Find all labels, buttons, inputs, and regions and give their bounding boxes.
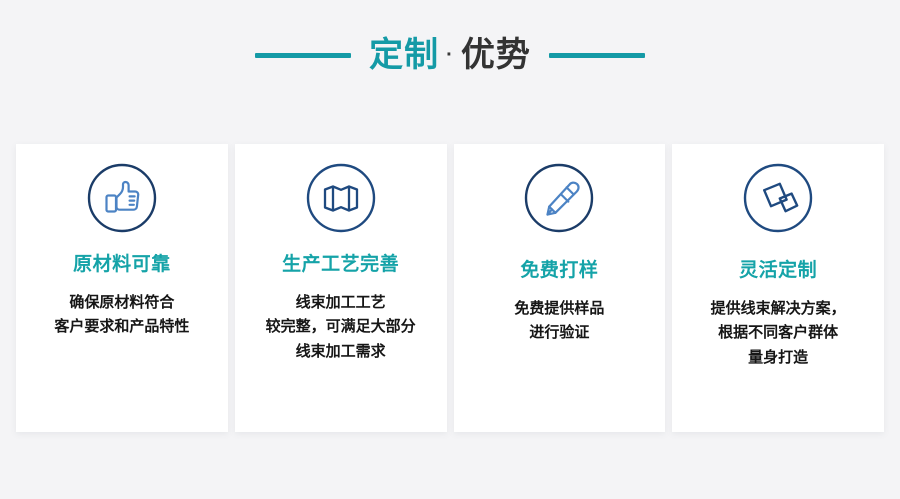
feature-card-description: 免费提供样品 进行验证 xyxy=(506,297,612,346)
feature-card-description: 线束加工工艺 较完整，可满足大部分 线束加工需求 xyxy=(258,291,424,364)
feature-card-title: 原材料可靠 xyxy=(73,255,171,274)
stacked-cards-icon xyxy=(741,161,815,235)
page-title-secondary: 优势 xyxy=(461,38,531,72)
pencil-icon xyxy=(522,161,596,235)
feature-card-description: 确保原材料符合 客户要求和产品特性 xyxy=(46,291,197,340)
feature-card-description-line: 线束加工工艺 xyxy=(266,291,416,315)
feature-card[interactable]: 免费打样 免费提供样品 进行验证 xyxy=(454,144,666,432)
section-heading: 定制 · 优势 xyxy=(0,0,900,110)
folded-map-icon xyxy=(304,161,378,235)
feature-card-title: 免费打样 xyxy=(520,261,598,280)
feature-card-description-line: 较完整，可满足大部分 xyxy=(266,315,416,339)
feature-card-title: 灵活定制 xyxy=(739,261,817,280)
feature-card-description-line: 免费提供样品 xyxy=(514,297,604,321)
feature-card-description-line: 进行验证 xyxy=(514,321,604,345)
heading-rule-left xyxy=(255,53,351,58)
feature-card[interactable]: 灵活定制 提供线束解决方案， 根据不同客户群体 量身打造 xyxy=(672,144,884,432)
feature-card-description: 提供线束解决方案， 根据不同客户群体 量身打造 xyxy=(703,297,854,370)
feature-card[interactable]: 生产工艺完善 线束加工工艺 较完整，可满足大部分 线束加工需求 xyxy=(235,144,447,432)
feature-card-description-line: 量身打造 xyxy=(711,346,846,370)
feature-card-description-line: 客户要求和产品特性 xyxy=(54,315,189,339)
page-title-primary: 定制 xyxy=(369,38,439,72)
feature-card[interactable]: 原材料可靠 确保原材料符合 客户要求和产品特性 xyxy=(16,144,228,432)
feature-card-description-line: 线束加工需求 xyxy=(266,340,416,364)
feature-card-description-line: 确保原材料符合 xyxy=(54,291,189,315)
page-title: 定制 · 优势 xyxy=(369,38,531,72)
feature-card-title: 生产工艺完善 xyxy=(282,255,399,274)
heading-rule-right xyxy=(549,53,645,58)
page-title-separator: · xyxy=(439,45,461,65)
thumbs-up-icon xyxy=(85,161,159,235)
feature-card-description-line: 提供线束解决方案， xyxy=(711,297,846,321)
feature-card-list: 原材料可靠 确保原材料符合 客户要求和产品特性 生产工艺完善 线束加工工艺 较完… xyxy=(16,144,884,432)
feature-card-description-line: 根据不同客户群体 xyxy=(711,321,846,345)
